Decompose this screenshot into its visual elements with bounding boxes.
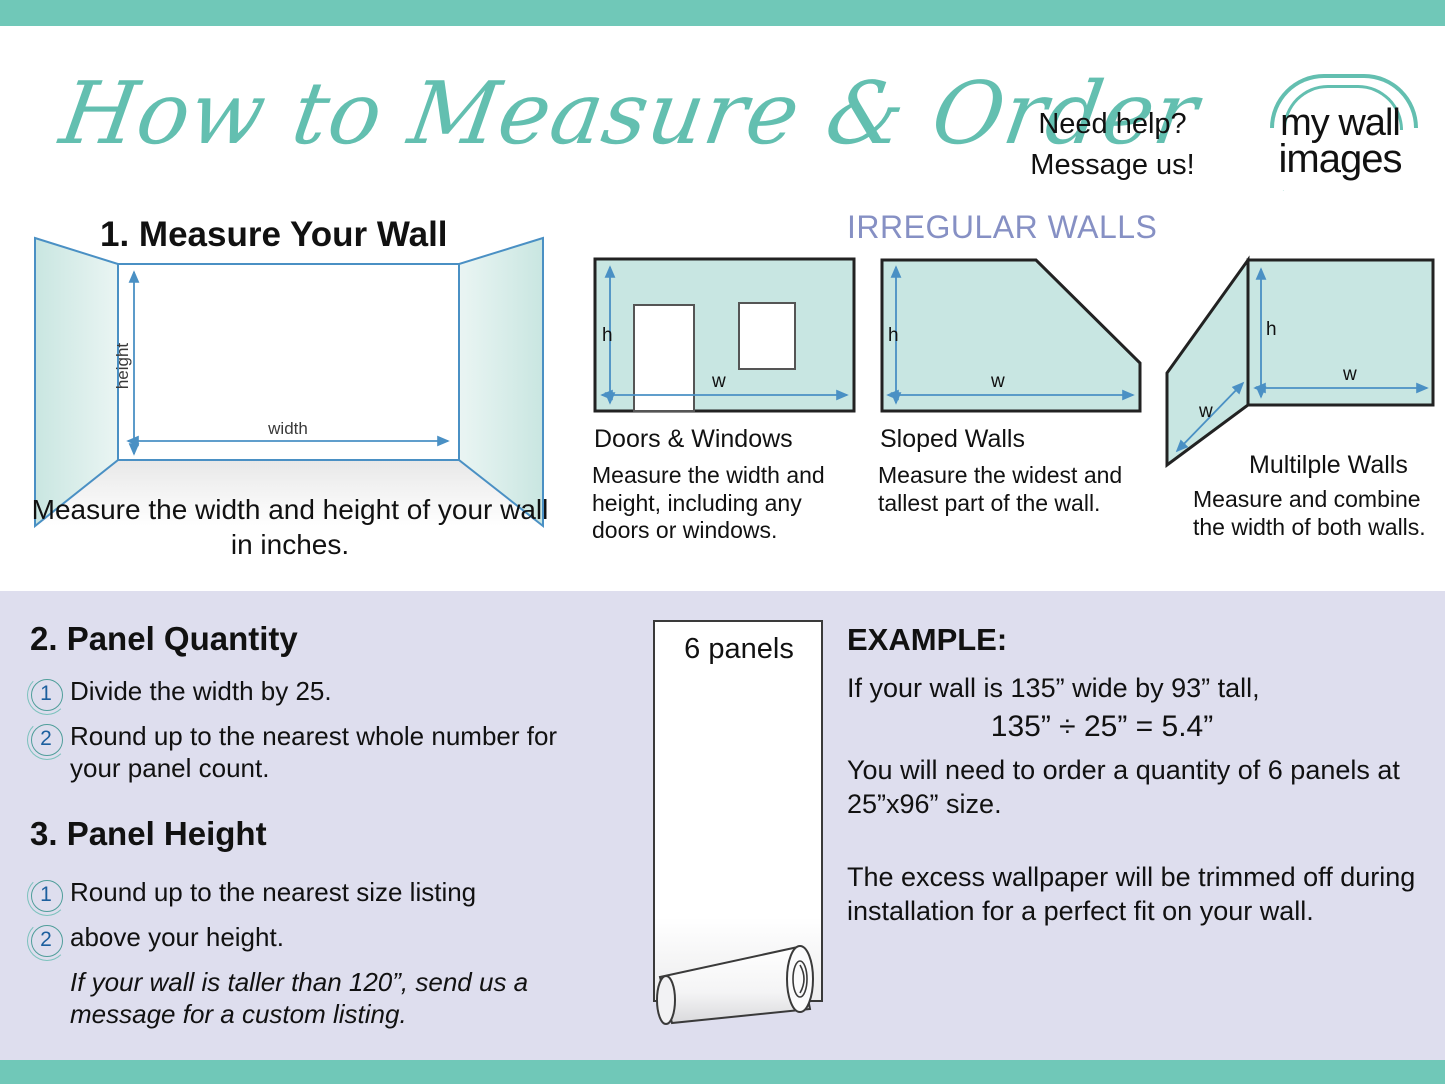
step3-bullet-1-text: Round up to the nearest size listing [70, 876, 476, 909]
example-spacer [847, 821, 1427, 861]
room-width-label: width [267, 419, 308, 438]
panel-b-h-label: h [888, 325, 899, 346]
need-help-line2: Message us! [1005, 145, 1220, 186]
panel-a-desc: Measure the width and height, including … [592, 462, 860, 545]
panel-sloped-walls: h w Sloped Walls Measure the widest and … [878, 255, 1146, 517]
list-item: 2 Round up to the nearest whole number f… [26, 720, 586, 784]
step3-note-row: If your wall is taller than 120”, send u… [26, 966, 596, 1030]
step3-bullet-list: 1 Round up to the nearest size listing 2… [26, 876, 596, 1035]
example-equation: 135” ÷ 25” = 5.4” [847, 710, 1427, 744]
panel-c-w2-label: w [1198, 401, 1213, 422]
example-line-1: If your wall is 135” wide by 93” tall, [847, 672, 1427, 706]
panel-b-name: Sloped Walls [880, 425, 1146, 454]
header: How to Measure & Order Need help? Messag… [0, 26, 1445, 191]
panel-c-w-label: w [1342, 364, 1357, 385]
panel-a-h-label: h [602, 325, 613, 346]
list-item: 1 Round up to the nearest size listing [26, 876, 596, 916]
sloped-walls-diagram: h w [878, 255, 1146, 420]
doors-windows-diagram: h w [592, 255, 860, 420]
need-help-block: Need help? Message us! [1005, 104, 1220, 186]
panel-a-name: Doors & Windows [594, 425, 860, 454]
example-line-2: You will need to order a quantity of 6 p… [847, 754, 1427, 822]
example-line-3: The excess wallpaper will be trimmed off… [847, 861, 1427, 929]
room-height-label: height [113, 343, 132, 390]
step1-title: 1. Measure Your Wall [100, 215, 448, 255]
panel-c-name: Multilple Walls [1249, 451, 1439, 480]
panel-doors-windows: h w Doors & Windows Measure the width an… [592, 255, 860, 545]
irregular-walls-heading: IRREGULAR WALLS [847, 209, 1157, 246]
bullet-number-icon: 1 [26, 675, 70, 715]
step2-title: 2. Panel Quantity [30, 620, 298, 658]
multiple-walls-diagram: h w w [1163, 255, 1439, 473]
step3-bullet-2-text: above your height. [70, 921, 284, 954]
panel-c-desc: Measure and combine the width of both wa… [1193, 486, 1439, 541]
step2-bullet-1-text: Divide the width by 25. [70, 675, 332, 708]
panel-b-w-label: w [990, 371, 1005, 392]
need-help-line1: Need help? [1005, 104, 1220, 145]
room-caption: Measure the width and height of your wal… [20, 492, 560, 563]
page-title: How to Measure & Order [54, 64, 1000, 164]
roll-panel-count-label: 6 panels [650, 633, 828, 666]
logo-word-2: images [1252, 139, 1428, 179]
wallpaper-roll-illustration [650, 617, 828, 1032]
list-item: 1 Divide the width by 25. [26, 675, 586, 715]
bottom-accent-band [0, 1060, 1445, 1084]
example-block: EXAMPLE: If your wall is 135” wide by 93… [847, 622, 1427, 929]
step2-bullet-2-text: Round up to the nearest whole number for… [70, 720, 586, 784]
step3-note-text: If your wall is taller than 120”, send u… [70, 966, 596, 1030]
bullet-number-icon: 1 [26, 876, 70, 916]
list-item: 2 above your height. [26, 921, 596, 961]
panel-b-desc: Measure the widest and tallest part of t… [878, 462, 1146, 517]
note-indent-spacer [26, 966, 70, 1006]
step3-title: 3. Panel Height [30, 815, 267, 853]
panel-c-h-label: h [1266, 319, 1277, 340]
bullet-number-icon: 2 [26, 720, 70, 760]
example-heading: EXAMPLE: [847, 622, 1427, 658]
step2-bullet-list: 1 Divide the width by 25. 2 Round up to … [26, 675, 586, 789]
top-accent-band [0, 0, 1445, 26]
panel-multiple-walls: h w w Multilple Walls Measure and combin… [1163, 255, 1439, 541]
bullet-number-icon: 2 [26, 921, 70, 961]
panel-a-w-label: w [711, 371, 726, 392]
